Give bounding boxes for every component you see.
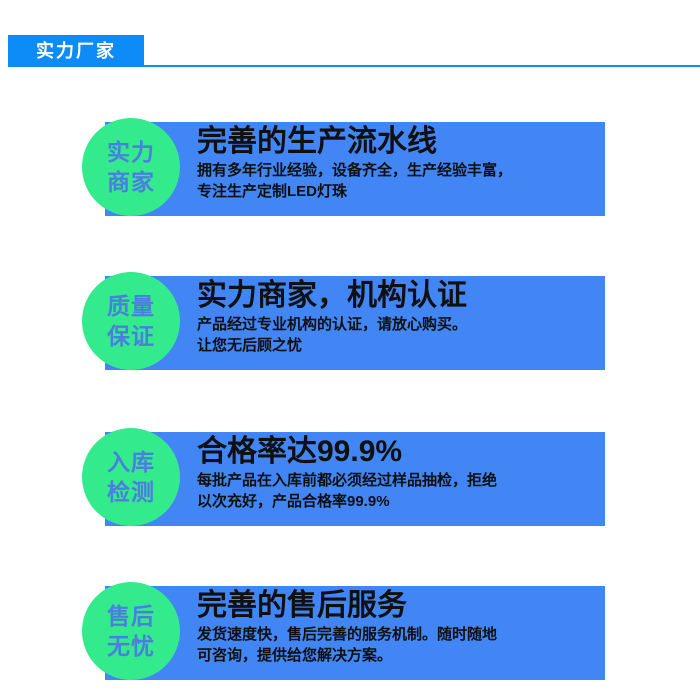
feature-badge-line-2: 商家 (107, 167, 155, 197)
feature-description-line-1: 发货速度快，售后完善的服务机制。随时随地 (197, 624, 601, 645)
feature-badge-circle: 质量 保证 (82, 272, 180, 370)
feature-badge-line-1: 入库 (107, 447, 155, 477)
feature-title: 实力商家，机构认证 (197, 278, 601, 314)
feature-row: 售后 无忧 完善的售后服务 发货速度快，售后完善的服务机制。随时随地 可咨询，提… (0, 576, 700, 680)
feature-row: 实力 商家 完善的生产流水线 拥有多年行业经验，设备齐全，生产经验丰富， 专注生… (0, 112, 700, 216)
feature-list: 实力 商家 完善的生产流水线 拥有多年行业经验，设备齐全，生产经验丰富， 专注生… (0, 0, 700, 700)
feature-description-line-2: 专注生产定制LED灯珠 (197, 181, 601, 202)
feature-text-group: 完善的售后服务 发货速度快，售后完善的服务机制。随时随地 可咨询，提供给您解决方… (197, 588, 601, 666)
feature-description-line-1: 产品经过专业机构的认证，请放心购买。 (197, 314, 601, 335)
feature-text-group: 实力商家，机构认证 产品经过专业机构的认证，请放心购买。 让您无后顾之忧 (197, 278, 601, 356)
feature-badge-line-2: 无忧 (107, 631, 155, 661)
feature-row: 入库 检测 合格率达99.9% 每批产品在入库前都必须经过样品抽检，拒绝 以次充… (0, 422, 700, 526)
feature-title: 合格率达99.9% (197, 434, 601, 470)
feature-description-line-1: 每批产品在入库前都必须经过样品抽检，拒绝 (197, 470, 601, 491)
feature-title: 完善的生产流水线 (197, 124, 601, 160)
feature-badge-circle: 入库 检测 (82, 428, 180, 526)
feature-badge-line-1: 质量 (107, 291, 155, 321)
feature-badge-circle: 实力 商家 (82, 118, 180, 216)
feature-badge-line-2: 保证 (107, 321, 155, 351)
feature-text-group: 完善的生产流水线 拥有多年行业经验，设备齐全，生产经验丰富， 专注生产定制LED… (197, 124, 601, 202)
feature-badge-line-1: 实力 (107, 137, 155, 167)
feature-row: 质量 保证 实力商家，机构认证 产品经过专业机构的认证，请放心购买。 让您无后顾… (0, 266, 700, 370)
feature-badge-line-2: 检测 (107, 477, 155, 507)
feature-badge-circle: 售后 无忧 (82, 582, 180, 680)
feature-description-line-1: 拥有多年行业经验，设备齐全，生产经验丰富， (197, 160, 601, 181)
feature-title: 完善的售后服务 (197, 588, 601, 624)
feature-description-line-2: 让您无后顾之忧 (197, 335, 601, 356)
feature-text-group: 合格率达99.9% 每批产品在入库前都必须经过样品抽检，拒绝 以次充好，产品合格… (197, 434, 601, 512)
feature-description-line-2: 可咨询，提供给您解决方案。 (197, 645, 601, 666)
feature-description-line-2: 以次充好，产品合格率99.9% (197, 491, 601, 512)
feature-badge-line-1: 售后 (107, 601, 155, 631)
